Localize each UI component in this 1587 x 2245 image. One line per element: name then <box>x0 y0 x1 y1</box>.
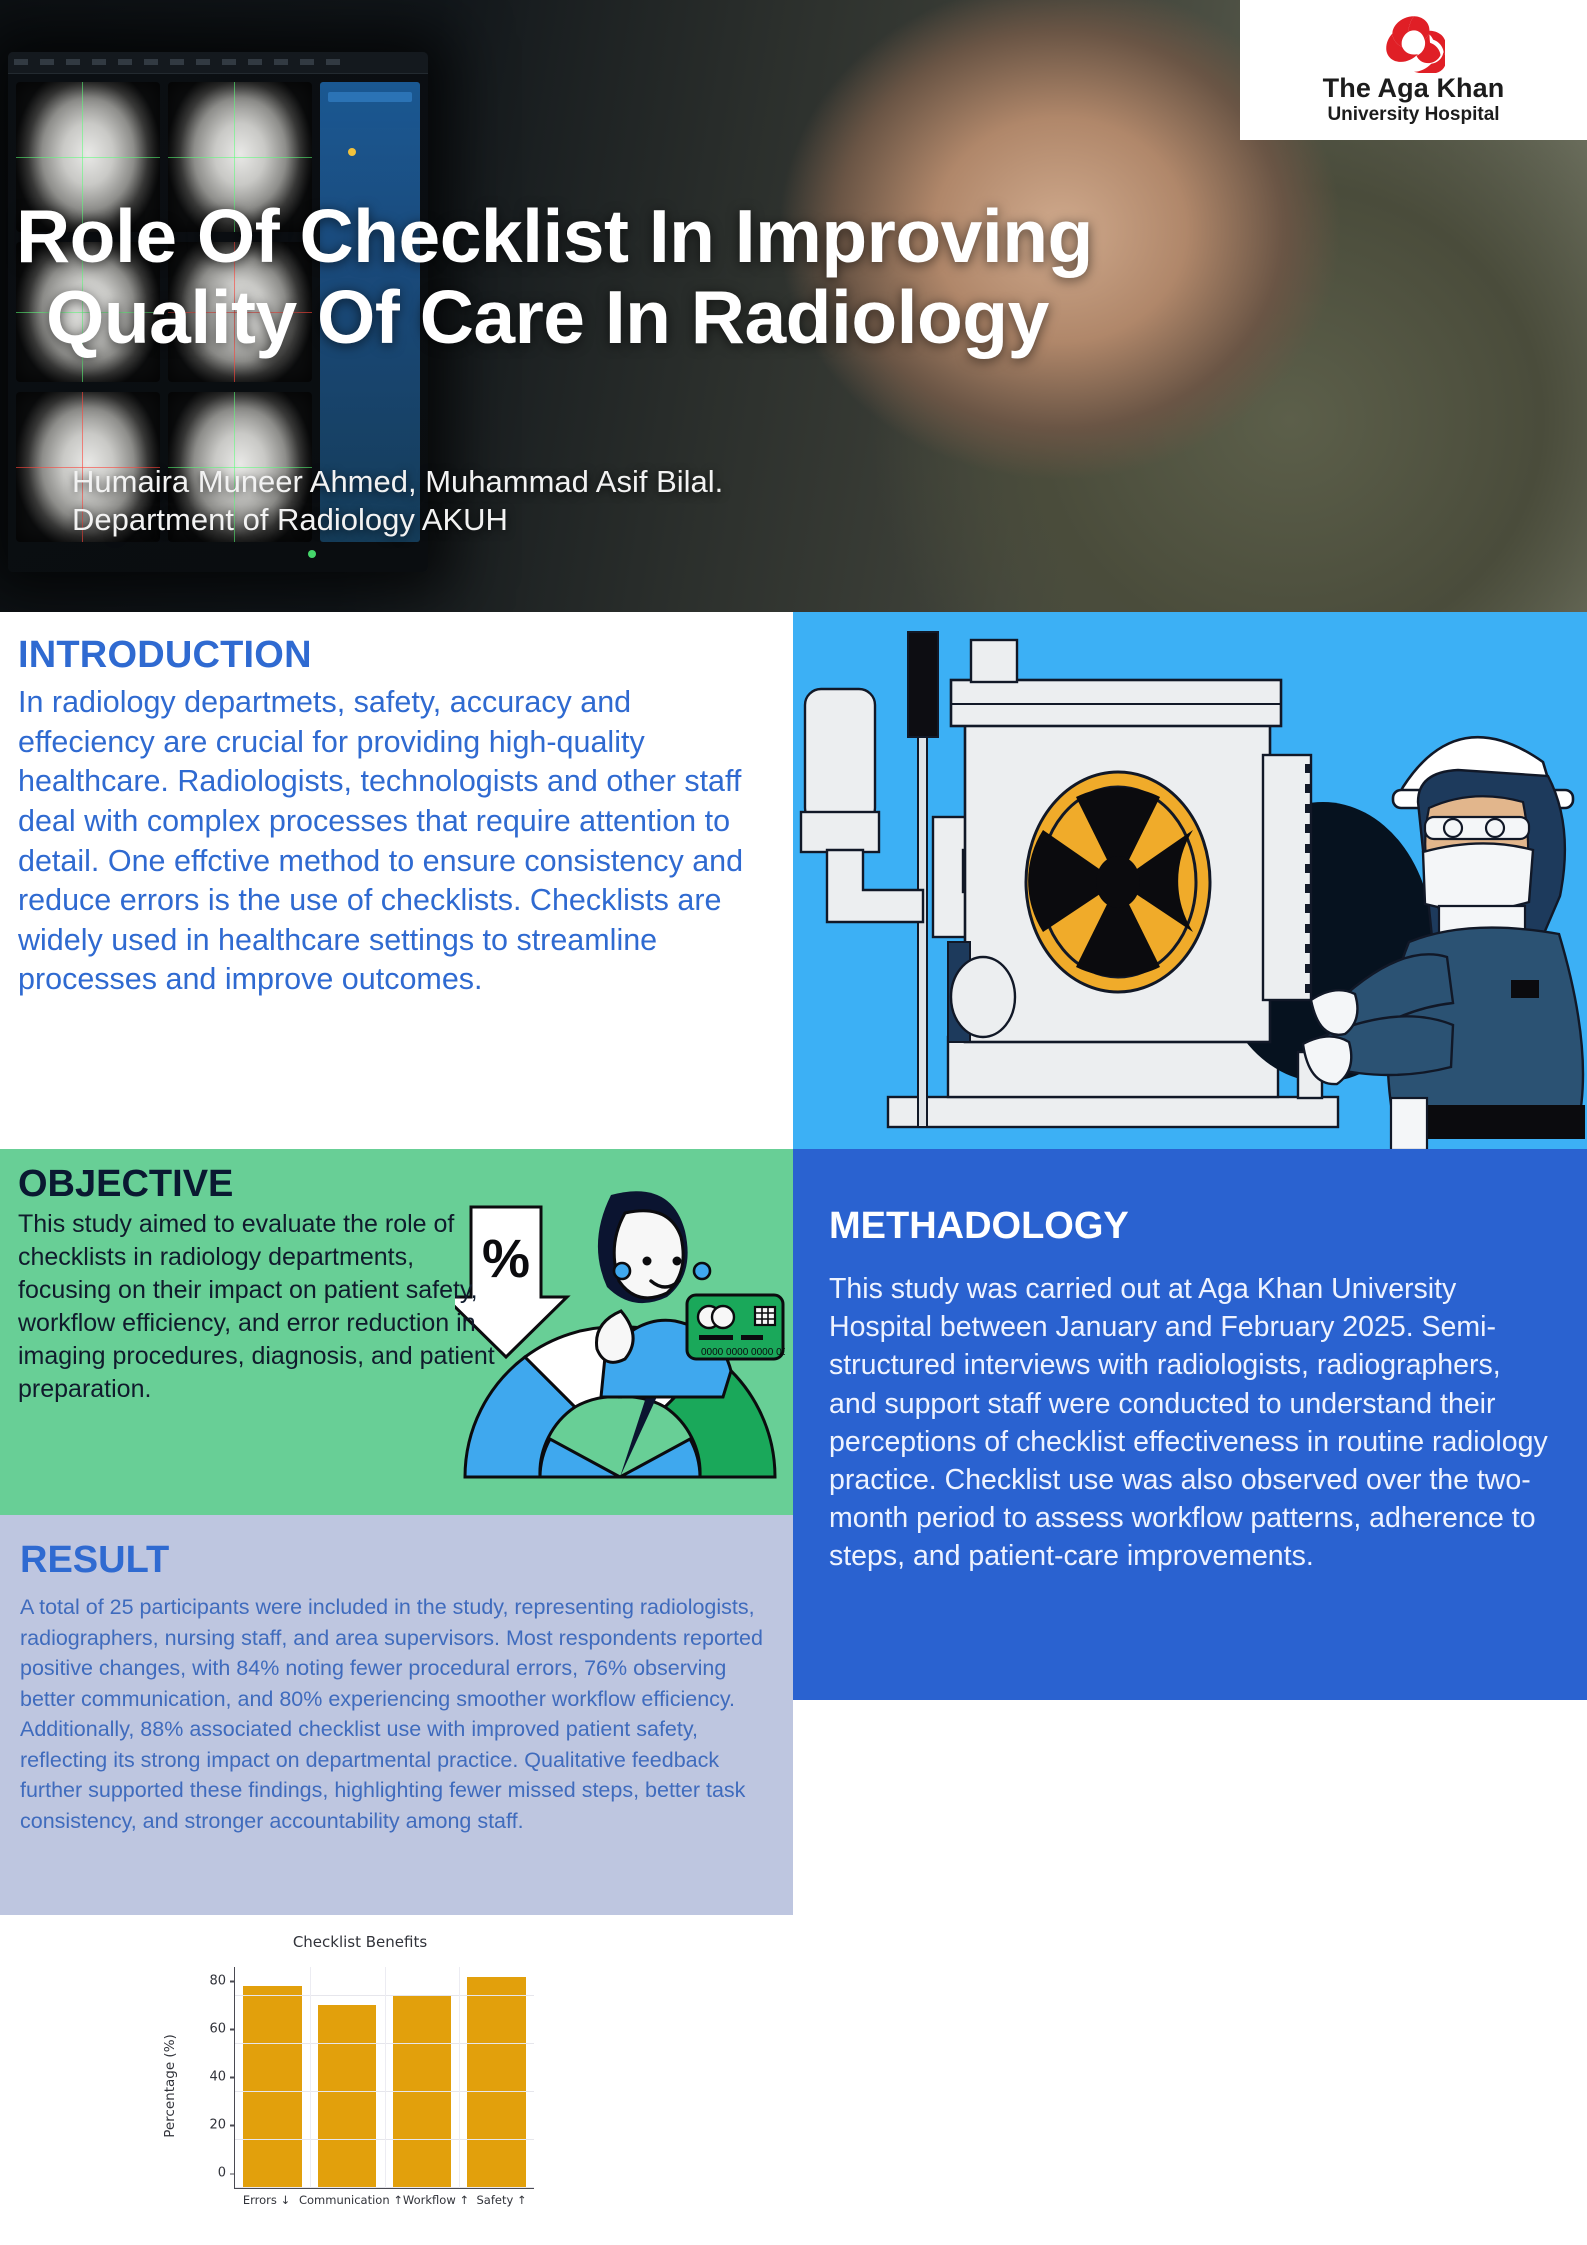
chart-x-tick: Safety ↑ <box>469 2193 534 2207</box>
chart-bar-cell <box>310 1967 385 2188</box>
checklist-benefits-chart: Checklist Benefits Percentage (%) 020406… <box>150 1925 570 2235</box>
chart-title: Checklist Benefits <box>150 1933 570 1951</box>
title-line-1: Role Of Checklist In Improving <box>16 196 1576 277</box>
card-number: 0000 0000 0000 0000 <box>701 1347 785 1358</box>
aga-khan-logo: The Aga Khan University Hospital <box>1240 0 1587 140</box>
aga-khan-trefoil-icon <box>1383 15 1445 73</box>
chart-bar-cell <box>235 1967 310 2188</box>
chart-y-axis-label: Percentage (%) <box>162 2034 178 2138</box>
chart-gridline-vertical <box>385 1967 386 2188</box>
chart-bar <box>318 2005 376 2188</box>
poster-header: The Aga Khan University Hospital Role Of… <box>0 0 1587 612</box>
chart-plot-area: 020406080 <box>234 1967 534 2189</box>
chart-y-tick: 80 <box>209 1973 235 1988</box>
chart-y-tick: 20 <box>209 2117 235 2132</box>
page-title: Role Of Checklist In Improving Quality O… <box>16 196 1576 358</box>
section-result: RESULT A total of 25 participants were i… <box>0 1515 793 1915</box>
chart-x-axis-labels: Errors ↓Communication ↑Workflow ↑Safety … <box>234 2193 534 2207</box>
chart-y-tick: 60 <box>209 2021 235 2036</box>
discount-gauge-illustration-icon: % 0000 0000 0000 0000 <box>455 1177 785 1507</box>
section-chart: Checklist Benefits Percentage (%) 020406… <box>0 1915 793 2245</box>
authors-department: Department of Radiology AKUH <box>72 501 1072 539</box>
chart-bar <box>467 1977 525 2188</box>
section-xray-illustration <box>793 612 1587 1149</box>
introduction-heading: INTRODUCTION <box>18 634 767 677</box>
chart-gridline-vertical <box>310 1967 311 2188</box>
status-dot <box>308 550 316 558</box>
methodology-heading: METHADOLOGY <box>829 1205 1551 1248</box>
monitor-toolbar <box>8 52 428 74</box>
chart-x-tick: Communication ↑ <box>299 2193 403 2207</box>
result-body: A total of 25 participants were included… <box>20 1592 763 1836</box>
section-methodology: METHADOLOGY This study was carried out a… <box>793 1149 1587 1700</box>
logo-line-1: The Aga Khan <box>1323 75 1505 102</box>
status-dot <box>348 148 356 156</box>
chart-bar-cell <box>385 1967 460 2188</box>
chart-x-tick: Workflow ↑ <box>403 2193 469 2207</box>
introduction-body: In radiology departmets, safety, accurac… <box>18 683 767 1000</box>
title-line-2: Quality Of Care In Radiology <box>16 277 1576 358</box>
objective-body: This study aimed to evaluate the role of… <box>18 1208 498 1406</box>
poster-root: The Aga Khan University Hospital Role Of… <box>0 0 1587 2245</box>
section-introduction: INTRODUCTION In radiology departmets, sa… <box>0 612 793 1149</box>
authors-block: Humaira Muneer Ahmed, Muhammad Asif Bila… <box>72 463 1072 539</box>
chart-bar <box>243 1986 301 2188</box>
radiation-symbol-icon <box>1026 772 1210 992</box>
chart-y-tick: 0 <box>218 2166 235 2181</box>
section-objective: OBJECTIVE This study aimed to evaluate t… <box>0 1149 793 1515</box>
result-heading: RESULT <box>20 1539 763 1582</box>
chart-bar-cell <box>459 1967 534 2188</box>
chart-gridline-vertical <box>459 1967 460 2188</box>
chart-x-tick: Errors ↓ <box>234 2193 299 2207</box>
methodology-body: This study was carried out at Aga Khan U… <box>829 1270 1551 1576</box>
chart-y-tick: 40 <box>209 2069 235 2084</box>
logo-line-2: University Hospital <box>1327 104 1499 126</box>
authors-names: Humaira Muneer Ahmed, Muhammad Asif Bila… <box>72 463 1072 501</box>
radiation-machine-technician-icon <box>793 612 1587 1149</box>
